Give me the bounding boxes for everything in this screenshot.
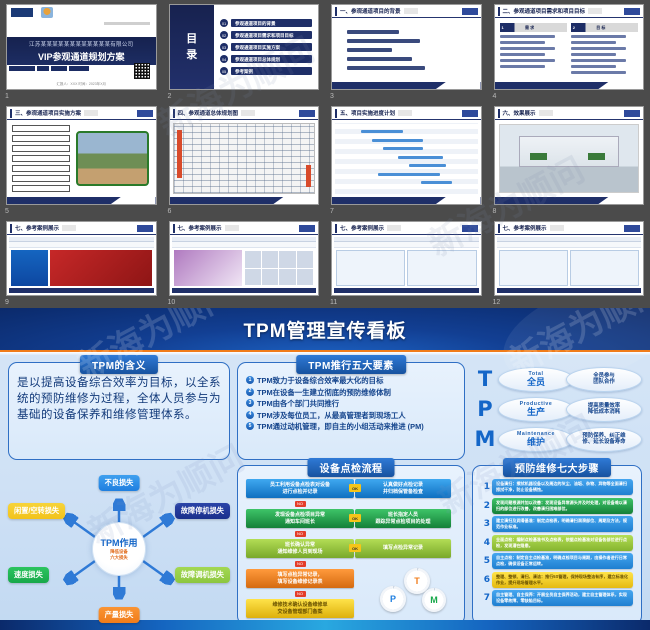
slide-body bbox=[495, 235, 644, 295]
thumbnail-cell[interactable]: 江苏某某某某某某某某某某某某有限公司 VIP参观通道规划方案 汇报人：XXX 时… bbox=[0, 0, 163, 102]
flow-step bbox=[12, 125, 70, 132]
list-item bbox=[571, 35, 626, 38]
column-badge: 1 bbox=[502, 25, 504, 30]
column-title: 需 求 bbox=[525, 25, 534, 31]
cover-top bbox=[7, 5, 156, 37]
slide-thumbnail-3[interactable]: 一、参观通道项目的背景 bbox=[331, 4, 482, 90]
item-number: 1 bbox=[246, 376, 254, 384]
loss-diagram: TPM作用 降低设备 六大损失 不良损失 故障停机损失 故障调机损失 产量损失 … bbox=[8, 473, 230, 625]
content-slide: 六、效果展示 bbox=[495, 107, 644, 204]
flow-text-2: 并归档保管备检查 bbox=[383, 489, 423, 496]
slide-footer bbox=[9, 288, 154, 293]
site-photo bbox=[76, 131, 148, 186]
flow-step bbox=[12, 185, 70, 192]
step-number: 6 bbox=[481, 575, 490, 585]
step-number: 7 bbox=[481, 593, 490, 603]
thumbnail-cell[interactable]: 二、参观通道项目需求和项目目标 1 需 求 bbox=[488, 0, 650, 102]
board-header: TPM管理宣传看板 bbox=[0, 308, 650, 350]
tpm-desc-2: 降低成本消耗 bbox=[588, 409, 620, 416]
item-text: TPM致力于设备综合效率最大化的目标 bbox=[257, 376, 383, 385]
panel-tpm-meaning: TPM的含义 是以提高设备综合效率为目标，以全系统的预防维修为过程，全体人员参与… bbox=[8, 362, 230, 460]
toc-badge: 02 bbox=[220, 31, 228, 39]
thumbnail-cell[interactable]: 三、参观通道项目实施方案 bbox=[0, 102, 163, 217]
panel-title-inspection: 设备点检流程 bbox=[308, 458, 395, 477]
column-title: 目 标 bbox=[596, 25, 605, 31]
thumbnail-cell[interactable]: 四、参观通道总体规划图 6 bbox=[163, 102, 326, 217]
website-screenshot bbox=[172, 237, 317, 293]
item-text: TPM在设备一生建立彻底的预防维修体制 bbox=[257, 388, 391, 397]
item-text: TPM通过动机管理，即自主的小组活动来推进 (PM) bbox=[257, 422, 424, 431]
thumbnail-cell[interactable]: 七、参考案例展示 11 bbox=[325, 217, 488, 308]
slide-thumbnail-8[interactable]: 六、效果展示 bbox=[494, 106, 645, 205]
no-badge-wrap: NO bbox=[246, 561, 354, 567]
content-slide: 三、参观通道项目实施方案 bbox=[7, 107, 156, 204]
cover-tag-chips bbox=[9, 66, 89, 71]
flow-box-right: 班长指定人员 跟踪异常点检项目的处理 bbox=[355, 509, 451, 528]
loss-chip-bottom: 产量损失 bbox=[99, 607, 140, 623]
slide-header: 二、参观通道项目需求和项目目标 bbox=[495, 5, 644, 18]
bullet-line bbox=[347, 48, 392, 52]
list-item bbox=[571, 41, 617, 44]
no-badge-wrap: NO bbox=[246, 501, 354, 507]
toc-bar: 参观通道项目需求和项目目标 bbox=[231, 31, 312, 39]
header-spacer bbox=[588, 8, 602, 14]
header-spacer bbox=[398, 110, 412, 116]
flow-step bbox=[12, 165, 70, 172]
slide-thumbnail-12[interactable]: 七、参考案例展示 bbox=[494, 221, 645, 296]
slide-footer bbox=[334, 288, 479, 293]
thumbnail-cell[interactable]: 六、效果展示 8 bbox=[488, 102, 650, 217]
item-number: 5 bbox=[246, 422, 254, 430]
slide-thumbnail-10[interactable]: 七、参考案例展示 bbox=[169, 221, 320, 296]
flow-box-left: 员工利用设备点检表对设备 进行点检并记录 OK bbox=[246, 479, 354, 498]
header-spacer bbox=[404, 8, 418, 14]
slide-footer bbox=[495, 197, 644, 204]
flow-no-row: NO bbox=[246, 500, 456, 507]
thumbnail-cell[interactable]: 五、项目实施进度计划 7 bbox=[325, 102, 488, 217]
flow-text-1: 填写点检异常记录 bbox=[383, 545, 423, 552]
board-top-row: TPM的含义 是以提高设备综合效率为目标，以全系统的预防维修为过程，全体人员参与… bbox=[8, 362, 642, 460]
column-header: 2 目 标 bbox=[571, 23, 638, 32]
page-indicator bbox=[299, 110, 315, 117]
slide-number: 10 bbox=[168, 298, 176, 307]
header-spacer bbox=[550, 225, 564, 231]
toc-label-bottom: 录 bbox=[186, 49, 197, 61]
flow-step bbox=[12, 175, 70, 182]
content-slide: 四、参观通道总体规划图 bbox=[170, 107, 319, 204]
header-spacer bbox=[84, 110, 98, 116]
web-content bbox=[334, 248, 479, 288]
panel-title-meaning: TPM的含义 bbox=[80, 355, 158, 374]
content-slide: 五、项目实施进度计划 bbox=[332, 107, 481, 204]
page-indicator bbox=[137, 110, 153, 117]
flow-text-2: 进行点检并记录 bbox=[282, 489, 317, 496]
no-badge: NO bbox=[295, 561, 306, 567]
five-elements-list: 1 TPM致力于设备综合效率最大化的目标 2 TPM在设备一生建立彻底的预防维修… bbox=[246, 376, 456, 431]
slide-thumbnail-4[interactable]: 二、参观通道项目需求和项目目标 1 需 求 bbox=[494, 4, 645, 90]
flow-step bbox=[12, 135, 70, 142]
slide-footer bbox=[170, 197, 319, 204]
tpm-cn: 全员 bbox=[527, 377, 545, 388]
flow-text-1: 发现设备点检项目异常 bbox=[275, 512, 325, 519]
flow-and-photo bbox=[12, 125, 151, 192]
panel-five-elements: TPM推行五大要素 1 TPM致力于设备综合效率最大化的目标 2 TPM在设备一… bbox=[237, 362, 465, 460]
toc-item[interactable]: 02 参观通道项目需求和项目目标 bbox=[220, 31, 312, 39]
slide-header: 七、参考案例展示 bbox=[495, 222, 644, 235]
flow-column bbox=[12, 125, 70, 192]
slide-body: 1 需 求 2 目 标 bbox=[495, 18, 644, 82]
tpm-pill-lobe-right: 全员参与 团队合作 bbox=[566, 367, 642, 392]
slide-body bbox=[332, 120, 481, 197]
step-item: 7 自主管理、自主保养：开展全员自主保养活动，建立自主管理体系，实现设备零故障、… bbox=[481, 590, 633, 606]
two-column-layout: 1 需 求 2 目 标 bbox=[500, 23, 639, 77]
slide-title: 七、参考案例展示 bbox=[15, 224, 59, 232]
toc-bar: 参观通道项目总体规划 bbox=[231, 55, 312, 63]
toc-item[interactable]: 01 参观通道项目的背景 bbox=[220, 19, 312, 27]
flow-text-2: 填写设备维修记录表 bbox=[277, 579, 322, 586]
header-accent-bar bbox=[498, 109, 500, 118]
cover-title-band: 江苏某某某某某某某某某某某某有限公司 VIP参观通道规划方案 bbox=[7, 37, 156, 66]
column-left: 1 需 求 bbox=[500, 23, 567, 77]
step-number: 4 bbox=[481, 538, 490, 548]
ok-badge: OK bbox=[349, 514, 361, 522]
header-spacer bbox=[241, 110, 255, 116]
step-item: 5 自主点检：制定自主点检基准，明确点检项目与周期，由操作者进行日常点检，确保设… bbox=[481, 553, 633, 569]
seven-steps-list: 1 设备清扫：擦拭机器设备以及周边的灰尘、油垢、杂物、异物等全面清扫擦拭干净，防… bbox=[481, 479, 633, 606]
slide-footer bbox=[332, 197, 481, 204]
content-slide: 七、参考案例展示 bbox=[170, 222, 319, 295]
header-accent-bar bbox=[173, 224, 175, 233]
list-item: 5 TPM通过动机管理，即自主的小组活动来推进 (PM) bbox=[246, 422, 456, 431]
company-logo-icon bbox=[11, 8, 33, 17]
slide-footer bbox=[7, 197, 156, 204]
slide-body bbox=[495, 120, 644, 197]
gear-m-icon: M bbox=[422, 588, 446, 612]
slide-title: 七、参考案例展示 bbox=[178, 224, 222, 232]
toc-bar: 参观通道项目的背景 bbox=[231, 19, 312, 27]
item-number: 3 bbox=[246, 399, 254, 407]
tpm-cn: 生产 bbox=[527, 407, 545, 418]
loss-chip-left-top: 闲置/空转损失 bbox=[8, 503, 65, 519]
slide-thumbnail-6[interactable]: 四、参观通道总体规划图 bbox=[169, 106, 320, 205]
toc-item[interactable]: 05 参考案例 bbox=[220, 67, 312, 75]
page-indicator bbox=[462, 110, 478, 117]
tpm-pill: Productive 生产 提高质量效率 降低成本消耗 bbox=[498, 397, 642, 422]
item-text: TPM涉及每位员工，从最高管理者到现场工人 bbox=[257, 411, 406, 420]
toc-items: 01 参观通道项目的背景 02 参观通道项目需求和项目目标 03 参观通道项目实… bbox=[214, 5, 318, 89]
slide-header: 七、参考案例展示 bbox=[170, 222, 319, 235]
list-item bbox=[571, 71, 626, 74]
bullet-line bbox=[347, 57, 412, 61]
gantt-chart-image bbox=[335, 123, 478, 194]
flow-text-1: 填写点检异常记录， bbox=[277, 572, 322, 579]
flow-text-1: 员工利用设备点检表对设备 bbox=[270, 482, 330, 489]
flow-text-1: 班长指定人员 bbox=[388, 512, 418, 519]
web-banner-red bbox=[50, 250, 152, 286]
header-accent-bar bbox=[10, 224, 12, 233]
slide-thumbnail-grid: 江苏某某某某某某某某某某某某有限公司 VIP参观通道规划方案 汇报人：XXX 时… bbox=[0, 0, 650, 308]
header-accent-bar bbox=[335, 7, 337, 16]
cover-subtext-line bbox=[104, 22, 150, 25]
toc-badge: 04 bbox=[220, 55, 228, 63]
list-item bbox=[500, 53, 546, 56]
slide-title: 七、参考案例展示 bbox=[340, 224, 384, 232]
web-dashboard-right bbox=[570, 250, 639, 286]
flow-text-2: 跟踪异常点检项目的处理 bbox=[375, 519, 430, 526]
flow-text-2: 通知车间班长 bbox=[285, 519, 315, 526]
list-item bbox=[500, 47, 555, 50]
flow-text-1: 维修技术确认设备维修单 bbox=[272, 602, 327, 609]
slide-thumbnail-9[interactable]: 七、参考案例展示 bbox=[6, 221, 157, 296]
tpm-desc-2: 修、延长设备寿命 bbox=[582, 439, 625, 446]
slide-body bbox=[170, 235, 319, 295]
toc-bar: 参考案例 bbox=[231, 67, 312, 75]
tpm-letter-row: M Maintenance 维护 预防保养、纠正维 修、延长设备寿命 bbox=[472, 424, 642, 454]
thumbnail-cell[interactable]: 七、参考案例展示 12 bbox=[488, 217, 650, 308]
tpm-meaning-text: 是以提高设备综合效率为目标，以全系统的预防维修为过程，全体人员参与为基础的设备保… bbox=[17, 375, 221, 423]
web-card-grid bbox=[244, 250, 314, 286]
slide-body bbox=[170, 120, 319, 197]
thumbnail-cell[interactable]: 七、参考案例展示 9 bbox=[0, 217, 163, 308]
tpm-pill: Total 全员 全员参与 团队合作 bbox=[498, 367, 642, 392]
column-right: 2 目 标 bbox=[571, 23, 638, 77]
column-header: 1 需 求 bbox=[500, 23, 567, 32]
slide-header: 一、参观通道项目的背景 bbox=[332, 5, 481, 18]
website-screenshot bbox=[497, 237, 642, 293]
header-spacer bbox=[387, 225, 401, 231]
slide-number: 2 bbox=[168, 92, 172, 101]
web-content bbox=[172, 248, 317, 288]
page-indicator bbox=[624, 225, 640, 232]
toc-badge: 05 bbox=[220, 67, 228, 75]
cover-title: VIP参观通道规划方案 bbox=[38, 50, 125, 63]
flow-box-left: 班长确认异常 通知维修人员到现场 OK bbox=[246, 539, 354, 558]
flow-box-left: 发现设备点检项目异常 通知车间班长 OK bbox=[246, 509, 354, 528]
loss-chip-right-top: 故障停机损失 bbox=[175, 503, 230, 519]
list-item bbox=[571, 53, 617, 56]
gear-label: M bbox=[430, 595, 438, 605]
slide-header: 四、参观通道总体规划图 bbox=[170, 107, 319, 120]
step-text: 全面点检：编制点检基准书及点检表，依据点检基准对设备各部位进行点检，发现潜在隐患… bbox=[492, 535, 633, 551]
list-item bbox=[571, 65, 617, 68]
column-badge: 2 bbox=[573, 25, 575, 30]
flow-row: 员工利用设备点检表对设备 进行点检并记录 OK 认真做好点检记录 并归档保管备检… bbox=[246, 479, 456, 498]
list-item: 1 TPM致力于设备综合效率最大化的目标 bbox=[246, 376, 456, 385]
header-accent-bar bbox=[498, 7, 500, 16]
list-item: 2 TPM在设备一生建立彻底的预防维修体制 bbox=[246, 388, 456, 397]
tpm-letter-row: T Total 全员 全员参与 团队合作 bbox=[472, 364, 642, 394]
content-slide: 一、参观通道项目的背景 bbox=[332, 5, 481, 89]
tpm-desc-2: 团队合作 bbox=[593, 379, 615, 386]
step-item: 3 建立清扫及润滑基准：制定点检表，明确清扫润滑部位、周期及方法，规范作业标准。 bbox=[481, 516, 633, 532]
web-sidebar-panel bbox=[11, 250, 48, 286]
slide-title: 六、效果展示 bbox=[503, 109, 536, 117]
panel-tpm-letters: T Total 全员 全员参与 团队合作 P bbox=[472, 362, 642, 460]
web-banner-purple bbox=[174, 250, 242, 286]
slide-number: 1 bbox=[5, 92, 9, 101]
slide-number: 7 bbox=[330, 207, 334, 216]
slide-title: 七、参考案例展示 bbox=[503, 224, 547, 232]
toc-badge: 01 bbox=[220, 19, 228, 27]
step-text: 设备清扫：擦拭机器设备以及周边的灰尘、油垢、杂物、异物等全面清扫擦拭干净，防止设… bbox=[492, 479, 633, 495]
bullet-list bbox=[337, 23, 476, 77]
step-text: 发现问题根源并加以改善：发现设备异常源头并及时处理，对设备难以清扫的部位进行改善… bbox=[492, 498, 633, 514]
slide-number: 3 bbox=[330, 92, 334, 101]
toc-text: 参观通道项目的背景 bbox=[235, 21, 276, 27]
header-spacer bbox=[225, 225, 239, 231]
page-indicator bbox=[462, 8, 478, 15]
flow-box-left: 维修技术确认设备维修单 交设备管理部门备案 bbox=[246, 599, 354, 618]
step-number: 3 bbox=[481, 519, 490, 529]
web-dashboard-left bbox=[336, 250, 405, 286]
panel-seven-steps: 预防维修七大步骤 1 设备清扫：擦拭机器设备以及周边的灰尘、油垢、杂物、异物等全… bbox=[472, 465, 642, 625]
toc-text: 参观通道项目实施方案 bbox=[235, 45, 280, 51]
qr-code-icon bbox=[134, 63, 150, 79]
flow-text-1: 认真做好点检记录 bbox=[383, 482, 423, 489]
slide-number: 12 bbox=[493, 298, 501, 307]
tpm-pill-lobe-left: Total 全员 bbox=[498, 367, 574, 392]
flow-no-row: NO bbox=[246, 530, 456, 537]
step-text: 自主点检：制定自主点检基准，明确点检项目与周期，由操作者进行日常点检，确保设备正… bbox=[492, 553, 633, 569]
slide-header: 七、参考案例展示 bbox=[7, 222, 156, 235]
slide-body bbox=[332, 18, 481, 82]
content-slide: 七、参考案例展示 bbox=[7, 222, 156, 295]
slide-thumbnail-1[interactable]: 江苏某某某某某某某某某某某某有限公司 VIP参观通道规划方案 汇报人：XXX 时… bbox=[6, 4, 157, 90]
emblem-icon bbox=[41, 7, 53, 18]
slide-thumbnail-7[interactable]: 五、项目实施进度计划 bbox=[331, 106, 482, 205]
column-items bbox=[571, 35, 638, 74]
board-title: TPM管理宣传看板 bbox=[243, 316, 406, 343]
thumbnail-cell[interactable]: 目 录 01 参观通道项目的背景 02 参观通道项目需求和项目目标 03 参观通… bbox=[163, 0, 326, 102]
panel-title-five-elements: TPM推行五大要素 bbox=[296, 355, 406, 374]
bullet-line bbox=[347, 30, 399, 34]
loss-hub: TPM作用 降低设备 六大损失 bbox=[92, 522, 146, 576]
bullet-line bbox=[347, 66, 425, 70]
header-accent-bar bbox=[173, 109, 175, 118]
toc-bar: 参观通道项目实施方案 bbox=[231, 43, 312, 51]
list-item bbox=[500, 65, 546, 68]
toc-side-label: 目 录 bbox=[170, 5, 215, 89]
tpm-pill-lobe-left: Productive 生产 bbox=[498, 397, 574, 422]
thumbnail-cell[interactable]: 七、参考案例展示 bbox=[163, 217, 326, 308]
slide-thumbnail-5[interactable]: 三、参观通道项目实施方案 bbox=[6, 106, 157, 205]
slide-body bbox=[7, 235, 156, 295]
slide-title: 三、参观通道项目实施方案 bbox=[15, 109, 81, 117]
page-indicator bbox=[137, 225, 153, 232]
list-item bbox=[571, 47, 626, 50]
toc-label-top: 目 bbox=[186, 33, 197, 45]
slide-thumbnail-11[interactable]: 七、参考案例展示 bbox=[331, 221, 482, 296]
toc-text: 参观通道项目需求和项目目标 bbox=[235, 33, 294, 39]
slide-body bbox=[332, 235, 481, 295]
flow-box-left: 填写点检异常记录， 填写设备维修记录表 bbox=[246, 569, 354, 588]
no-badge-wrap: NO bbox=[246, 591, 354, 597]
flow-row: 班长确认异常 通知维修人员到现场 OK 填写点检异常记录 bbox=[246, 539, 456, 558]
board-bottom-row: TPM作用 降低设备 六大损失 不良损失 故障停机损失 故障调机损失 产量损失 … bbox=[8, 465, 642, 625]
panel-title-seven-steps: 预防维修七大步骤 bbox=[503, 458, 611, 477]
no-badge: NO bbox=[295, 531, 306, 537]
step-text: 整理、整顿、清扫、清洁：推行5S管理，保持现场整洁有序，建立标准化作业，提升现场… bbox=[492, 572, 633, 588]
slide-header: 七、参考案例展示 bbox=[332, 222, 481, 235]
step-item: 1 设备清扫：擦拭机器设备以及周边的灰尘、油垢、杂物、异物等全面清扫擦拭干净，防… bbox=[481, 479, 633, 495]
hub-sub-2: 六大损失 bbox=[110, 555, 128, 561]
header-spacer bbox=[62, 225, 76, 231]
slide-header: 三、参观通道项目实施方案 bbox=[7, 107, 156, 120]
step-item: 2 发现问题根源并加以改善：发现设备异常源头并及时处理，对设备难以清扫的部位进行… bbox=[481, 498, 633, 514]
cover-company: 江苏某某某某某某某某某某某某有限公司 bbox=[29, 40, 133, 48]
page-indicator bbox=[624, 110, 640, 117]
item-text: TPM由各个部门共同推行 bbox=[257, 399, 339, 408]
tpm-pill-lobe-right: 预防保养、纠正维 修、延长设备寿命 bbox=[566, 427, 642, 452]
panel-inspection-flow: 设备点检流程 员工利用设备点检表对设备 进行点检并记录 OK 认真做好点检记录 … bbox=[237, 465, 465, 625]
loss-chip-left-bottom: 速度损失 bbox=[8, 567, 49, 583]
flow-box-right: 填写点检异常记录 bbox=[355, 539, 451, 558]
flow-text-2: 通知维修人员到现场 bbox=[277, 549, 322, 556]
slide-number: 5 bbox=[5, 207, 9, 216]
tpm-letter-p: P bbox=[472, 397, 498, 421]
ok-badge: OK bbox=[349, 544, 361, 552]
page-indicator bbox=[624, 8, 640, 15]
step-text: 自主管理、自主保养：开展全员自主保养活动，建立自主管理体系，实现设备零故障、零缺… bbox=[492, 590, 633, 606]
tpm-letter-m: M bbox=[472, 427, 498, 451]
slide-thumbnail-2[interactable]: 目 录 01 参观通道项目的背景 02 参观通道项目需求和项目目标 03 参观通… bbox=[169, 4, 320, 90]
tpm-letter-row: P Productive 生产 提高质量效率 降低成本消耗 bbox=[472, 394, 642, 424]
slide-title: 五、项目实施进度计划 bbox=[340, 109, 395, 117]
toc-item[interactable]: 04 参观通道项目总体规划 bbox=[220, 55, 312, 63]
slide-title: 四、参观通道总体规划图 bbox=[178, 109, 239, 117]
content-slide: 二、参观通道项目需求和项目目标 1 需 求 bbox=[495, 5, 644, 89]
web-dashboard-right bbox=[407, 250, 476, 286]
step-number: 1 bbox=[481, 482, 490, 492]
gear-label: T bbox=[414, 576, 420, 586]
gear-label: P bbox=[390, 594, 396, 604]
page-indicator bbox=[299, 225, 315, 232]
header-accent-bar bbox=[10, 109, 12, 118]
thumbnail-cell[interactable]: 一、参观通道项目的背景 3 bbox=[325, 0, 488, 102]
toc-item[interactable]: 03 参观通道项目实施方案 bbox=[220, 43, 312, 51]
toc-text: 参观通道项目总体规划 bbox=[235, 57, 280, 63]
slide-number: 9 bbox=[5, 298, 9, 307]
slide-title: 二、参观通道项目需求和项目目标 bbox=[503, 7, 586, 15]
no-badge: NO bbox=[295, 501, 306, 507]
tpm-letter-t: T bbox=[472, 367, 498, 391]
header-accent-bar bbox=[498, 224, 500, 233]
header-accent-bar bbox=[335, 109, 337, 118]
step-item: 6 整理、整顿、清扫、清洁：推行5S管理，保持现场整洁有序，建立标准化作业，提升… bbox=[481, 572, 633, 588]
toc-slide: 目 录 01 参观通道项目的背景 02 参观通道项目需求和项目目标 03 参观通… bbox=[170, 5, 319, 89]
slide-footer bbox=[332, 82, 481, 89]
no-badge-wrap: NO bbox=[246, 531, 354, 537]
slide-footer bbox=[172, 288, 317, 293]
slide-number: 6 bbox=[168, 207, 172, 216]
header-spacer bbox=[539, 110, 553, 116]
slide-footer bbox=[495, 82, 644, 89]
flow-no-row: NO bbox=[246, 560, 456, 567]
toc-badge: 03 bbox=[220, 43, 228, 51]
tpm-gears-decor: T P M bbox=[378, 568, 448, 614]
tpm-pill: Maintenance 维护 预防保养、纠正维 修、延长设备寿命 bbox=[498, 427, 642, 452]
ok-badge: OK bbox=[349, 484, 361, 492]
panel-tpm-losses: TPM作用 降低设备 六大损失 不良损失 故障停机损失 故障调机损失 产量损失 … bbox=[8, 465, 230, 625]
step-number: 2 bbox=[481, 501, 490, 511]
slide-title: 一、参观通道项目的背景 bbox=[340, 7, 401, 15]
flow-step bbox=[12, 145, 70, 152]
flow-box-right: 认真做好点检记录 并归档保管备检查 bbox=[355, 479, 451, 498]
no-badge: NO bbox=[295, 591, 306, 597]
web-dashboard-left bbox=[499, 250, 568, 286]
list-item: 3 TPM由各个部门共同推行 bbox=[246, 399, 456, 408]
slide-number: 11 bbox=[330, 298, 337, 307]
